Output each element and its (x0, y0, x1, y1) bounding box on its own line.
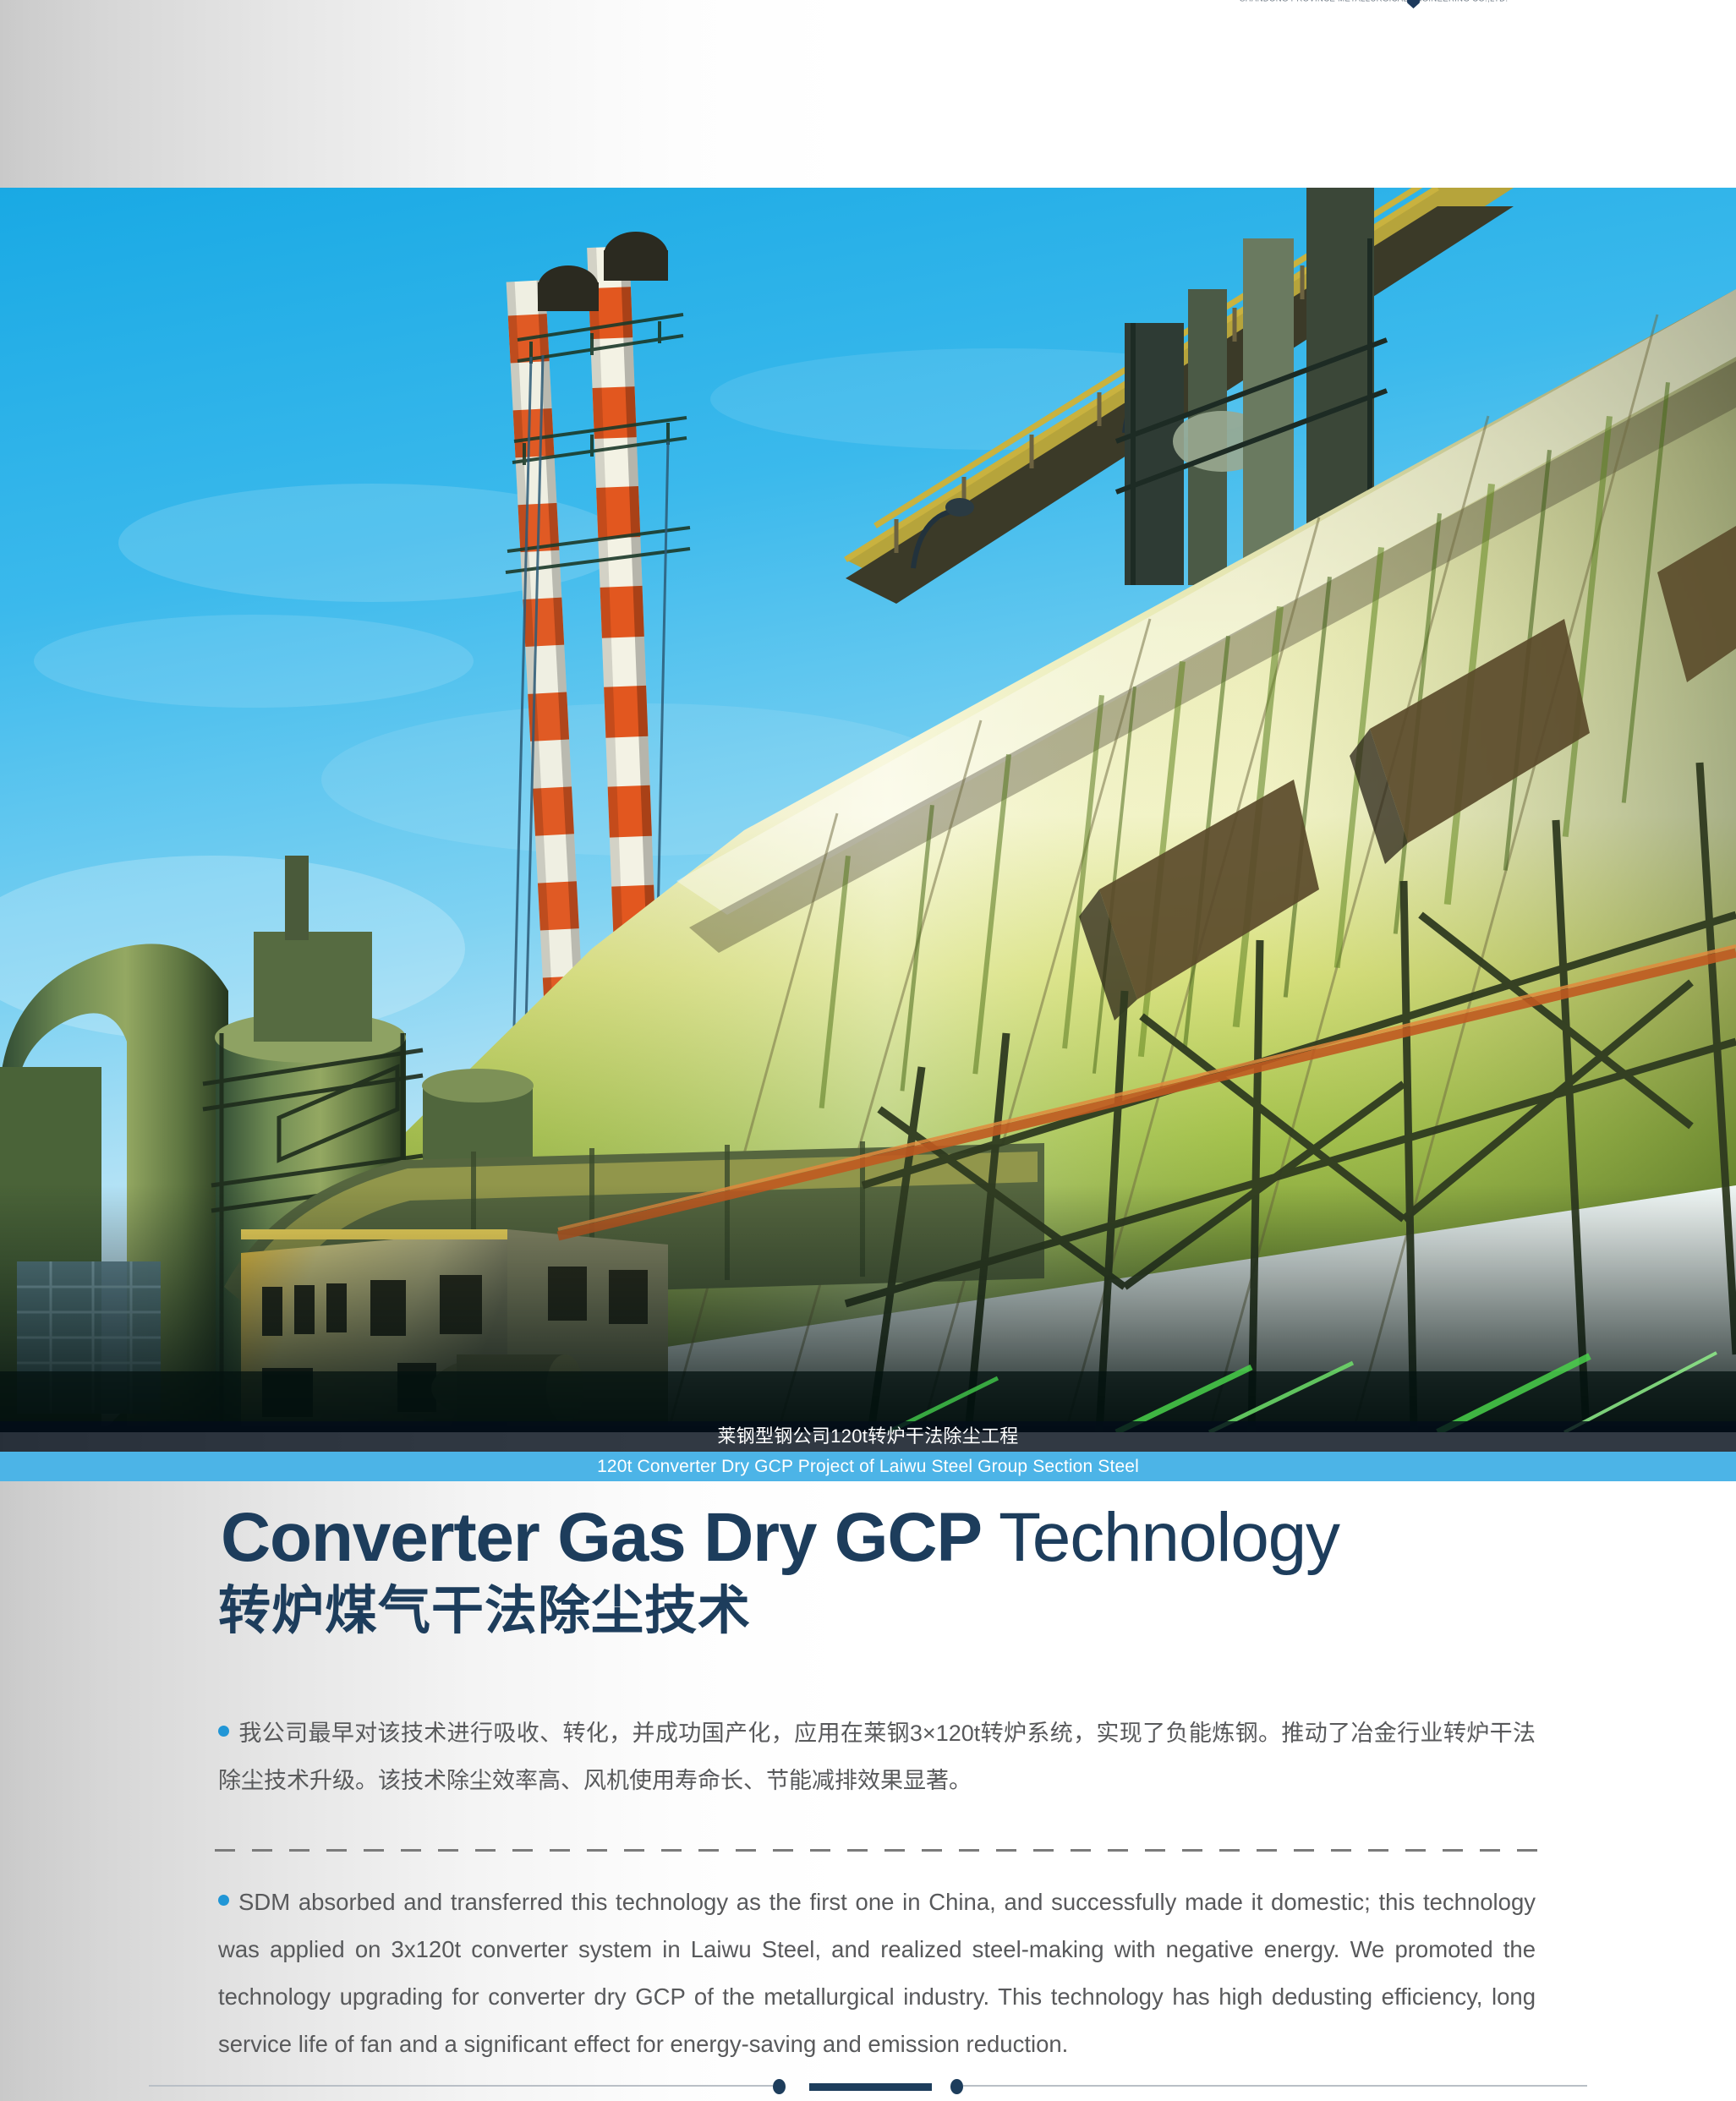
converter-dry-gcp-plant-photo (0, 188, 1736, 1432)
page-title-english-bold: Converter Gas Dry GCP (221, 1499, 982, 1576)
page-title-chinese: 转炉煤气干法除尘技术 (218, 1585, 751, 1638)
page-title-english: Converter Gas Dry GCP Technology (221, 1503, 1339, 1573)
footer-dot-left (773, 2079, 786, 2094)
page-title-english-light: Technology (982, 1499, 1339, 1576)
shield-mark-icon (1407, 0, 1420, 8)
english-paragraph: SDM absorbed and transferred this techno… (218, 1879, 1536, 2068)
page-header-strip: SHANDONG PROVINCE METALLURGICAL ENGINEER… (0, 0, 1736, 188)
footer-rule-left (149, 2085, 773, 2087)
footer-rule-right (963, 2085, 1587, 2087)
bullet-dot-icon (218, 1726, 229, 1737)
photo-caption-english: 120t Converter Dry GCP Project of Laiwu … (597, 1458, 1139, 1475)
company-name-line: SHANDONG PROVINCE METALLURGICAL ENGINEER… (1240, 0, 1508, 3)
chinese-paragraph-text: 我公司最早对该技术进行吸收、转化，并成功国产化，应用在莱钢3×120t转炉系统，… (218, 1721, 1536, 1793)
photo-caption-chinese: 莱钢型钢公司120t转炉干法除尘工程 (717, 1427, 1018, 1446)
footer-center-bar (809, 2083, 932, 2091)
chinese-paragraph: 我公司最早对该技术进行吸收、转化，并成功国产化，应用在莱钢3×120t转炉系统，… (218, 1710, 1536, 1804)
photo-caption-chinese-bar: 莱钢型钢公司120t转炉干法除尘工程 (0, 1421, 1736, 1452)
photo-caption-english-bar: 120t Converter Dry GCP Project of Laiwu … (0, 1452, 1736, 1481)
english-paragraph-text: SDM absorbed and transferred this techno… (218, 1889, 1536, 2057)
footer-dot-right (950, 2079, 963, 2094)
dashed-divider (215, 1849, 1544, 1852)
footer-ornament (0, 2076, 1736, 2095)
bullet-dot-icon (218, 1895, 229, 1906)
